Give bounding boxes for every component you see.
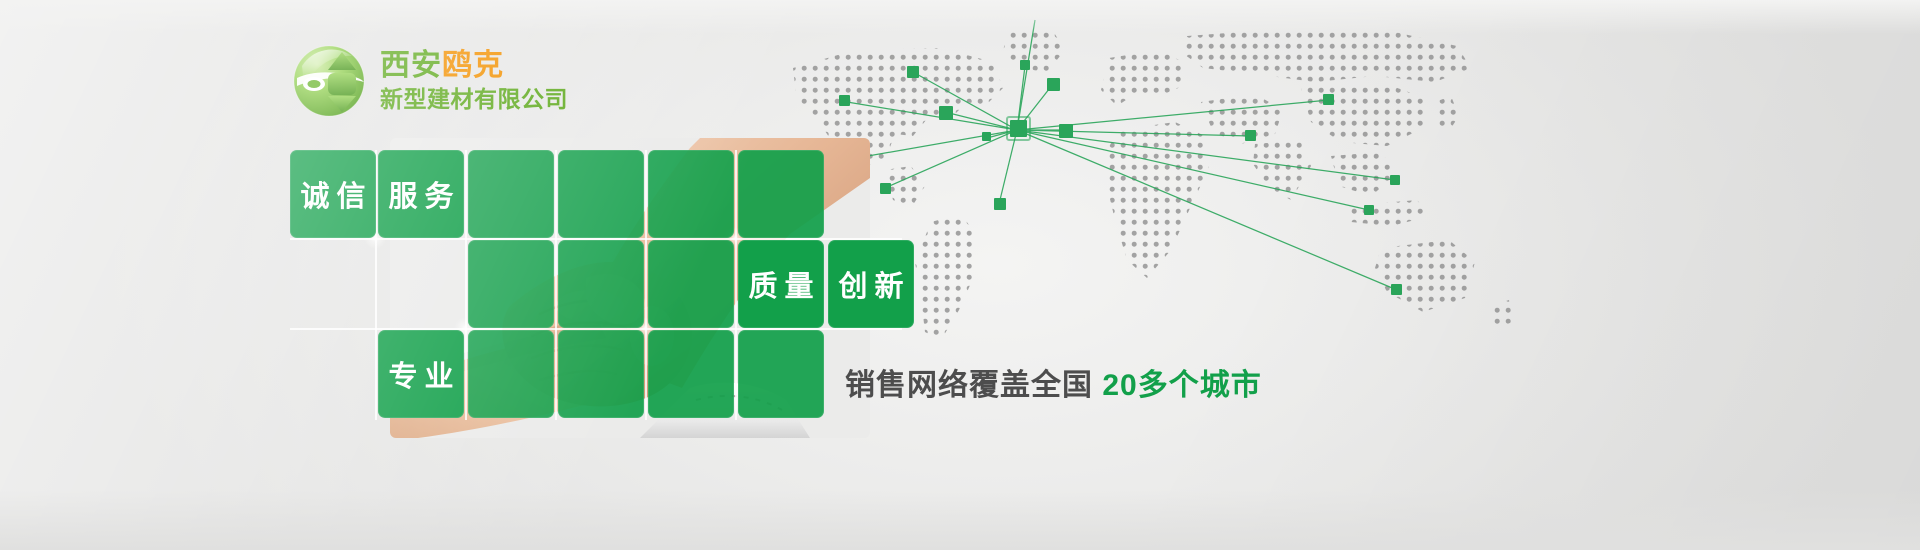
logo-line-1: 西安鸥克 — [380, 51, 568, 81]
tile-professional[interactable]: 专业 — [378, 330, 464, 418]
logo-line-2: 新型建材有限公司 — [380, 88, 568, 111]
tile-integrity[interactable]: 诚信 — [290, 150, 376, 238]
tile-blank — [468, 330, 554, 418]
tile-blank — [738, 330, 824, 418]
tile-blank — [648, 330, 734, 418]
logo-brand: 鸥克 — [442, 49, 504, 82]
tile-blank — [648, 240, 734, 328]
tile-blank — [468, 150, 554, 238]
promo-banner: 西安鸥克 新型建材有限公司 — [0, 0, 1920, 550]
banner-bottom-fade — [0, 490, 1920, 550]
value-tile-grid: 诚信 服务 专业 质量 创新 — [290, 150, 902, 420]
logo-wordmark: 西安鸥克 新型建材有限公司 — [380, 51, 568, 111]
tile-blank — [558, 150, 644, 238]
company-logo[interactable]: 西安鸥克 新型建材有限公司 — [292, 44, 568, 118]
tile-quality[interactable]: 质量 — [738, 240, 824, 328]
company-globe-logo-icon — [292, 44, 366, 118]
tagline-main: 销售网络覆盖全国 — [845, 369, 1093, 402]
tile-service[interactable]: 服务 — [378, 150, 464, 238]
tile-blank — [738, 150, 824, 238]
sales-network-tagline: 销售网络覆盖全国 20多个城市 — [845, 360, 1262, 404]
tile-blank — [558, 330, 644, 418]
tagline-highlight: 20多个城市 — [1102, 369, 1261, 402]
tile-innovation[interactable]: 创新 — [828, 240, 914, 328]
tile-blank — [648, 150, 734, 238]
logo-city: 西安 — [380, 49, 442, 82]
tile-blank — [468, 240, 554, 328]
tile-blank — [558, 240, 644, 328]
